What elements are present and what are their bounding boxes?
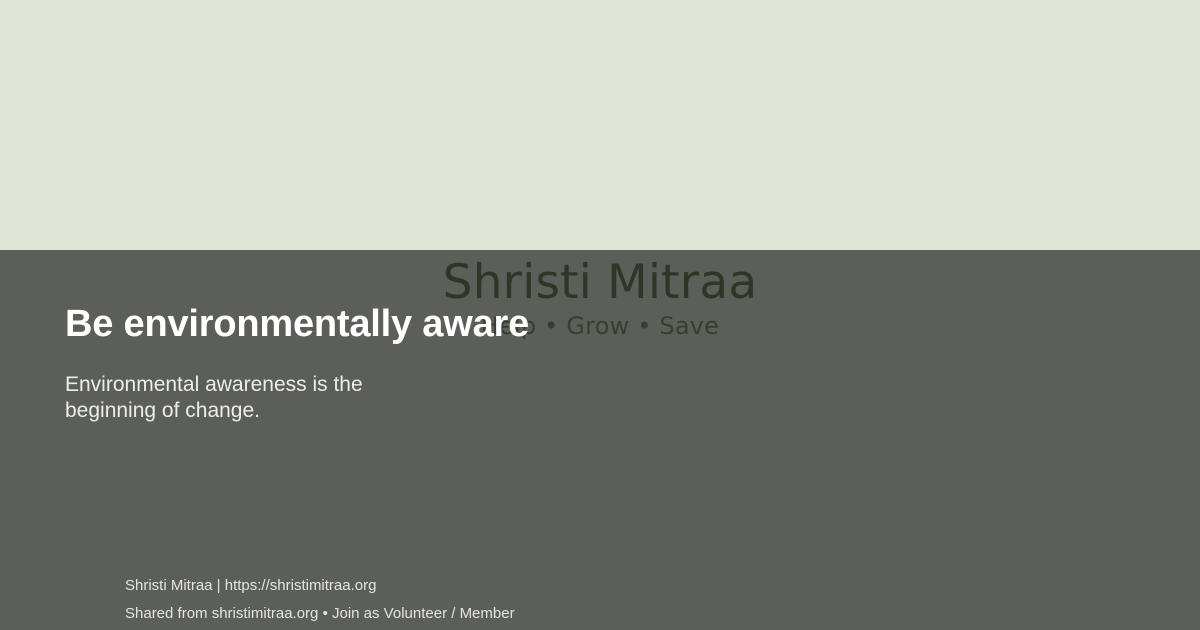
share-card: Shristi Mitraa Help • Grow • Save Be env…	[0, 0, 1200, 630]
footer-share-note: Shared from shristimitraa.org • Join as …	[125, 600, 1025, 628]
subtitle-line-2: beginning of change.	[65, 398, 495, 424]
subtitle: Environmental awareness is the beginning…	[65, 372, 495, 424]
top-color-band	[0, 0, 1200, 250]
headline: Be environmentally aware	[65, 301, 529, 347]
subtitle-line-1: Environmental awareness is the	[65, 372, 495, 398]
footer: Shristi Mitraa | https://shristimitraa.o…	[125, 572, 1025, 628]
footer-attribution: Shristi Mitraa | https://shristimitraa.o…	[125, 572, 1025, 600]
